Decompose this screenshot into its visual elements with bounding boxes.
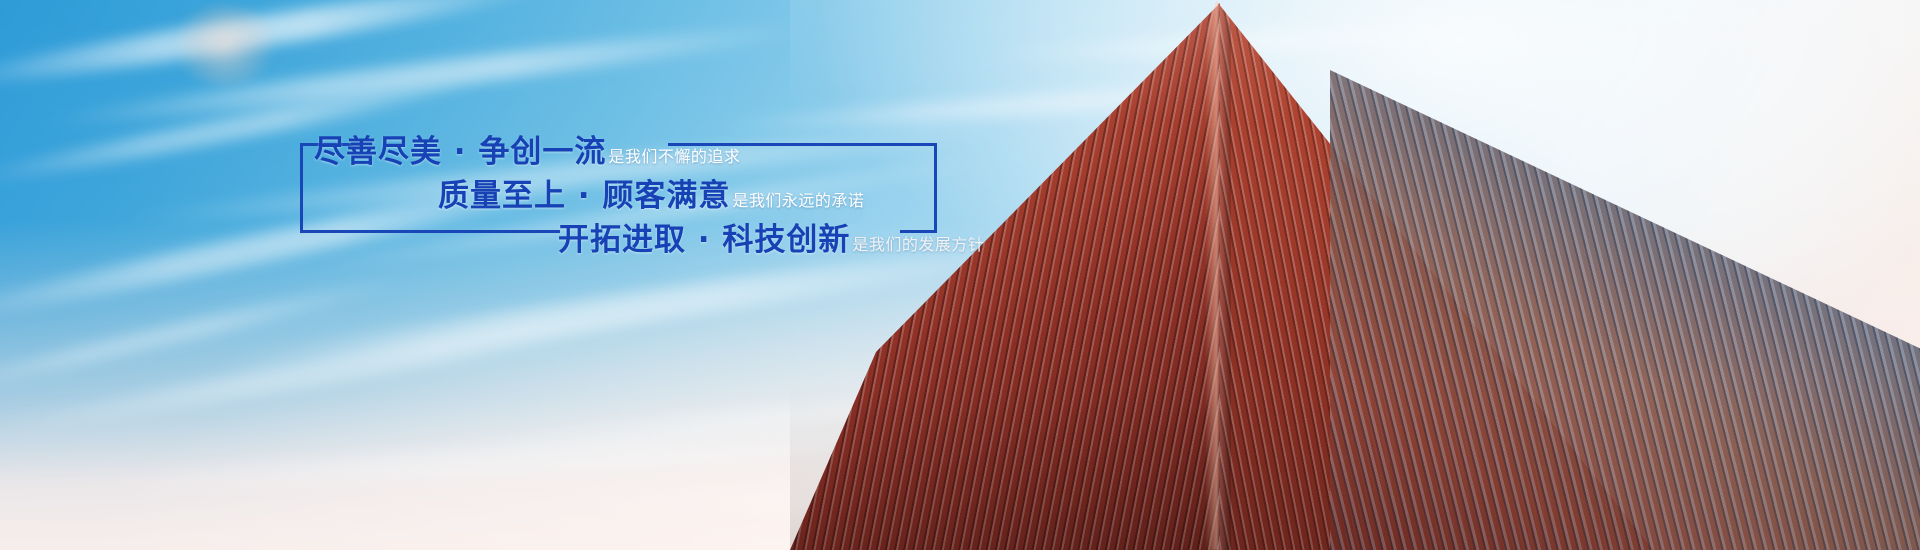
- slogan-1-sub: 是我们不懈的追求: [608, 143, 740, 167]
- hero-banner: 尽善尽美 · 争创一流 是我们不懈的追求 质量至上 · 顾客满意 是我们永远的承…: [0, 0, 1920, 550]
- slogan-1-main: 尽善尽美 · 争创一流: [314, 126, 606, 171]
- slogan-line-2: 质量至上 · 顾客满意 是我们永远的承诺: [438, 170, 864, 215]
- slogan-line-1: 尽善尽美 · 争创一流 是我们不懈的追求: [314, 126, 740, 171]
- cloud-streak: [0, 286, 736, 444]
- slogan-3-main: 开拓进取 · 科技创新: [558, 214, 850, 259]
- slogan-2-main: 质量至上 · 顾客满意: [438, 170, 730, 215]
- slogan-2-sub: 是我们永远的承诺: [732, 187, 864, 211]
- skyscraper-image: [790, 0, 1920, 550]
- slogan-3-sub: 是我们的发展方针: [852, 231, 984, 255]
- lens-flare: [170, 5, 280, 85]
- slogan-line-3: 开拓进取 · 科技创新 是我们的发展方针: [558, 214, 984, 259]
- building-shading-overlay: [790, 0, 1920, 550]
- slogan-group: 尽善尽美 · 争创一流 是我们不懈的追求 质量至上 · 顾客满意 是我们永远的承…: [300, 118, 960, 268]
